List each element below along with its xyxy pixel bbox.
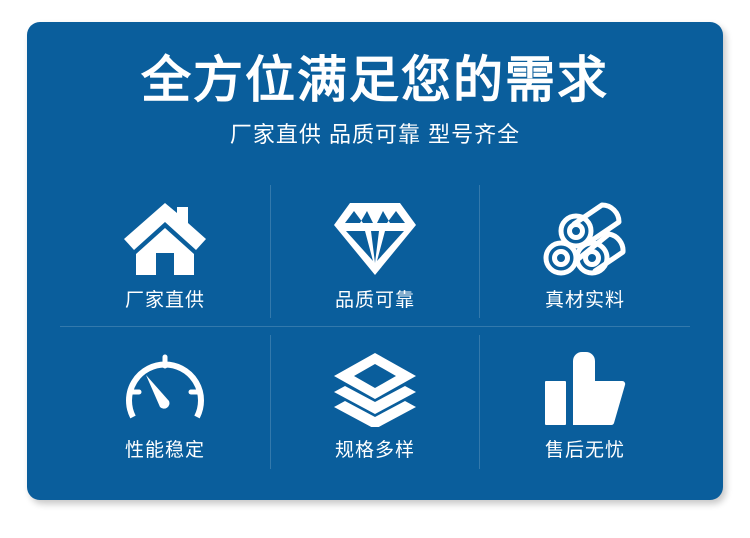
layers-icon: [332, 341, 418, 437]
feature-cell-worry-free-service: 售后无忧: [480, 327, 690, 477]
feature-label: 性能稳定: [125, 439, 205, 463]
feature-grid: 厂家直供 品质可靠: [60, 177, 690, 477]
house-icon: [122, 191, 208, 287]
diamond-icon: [333, 191, 417, 287]
feature-label: 售后无忧: [545, 439, 625, 463]
banner-header: 全方位满足您的需求 厂家直供 品质可靠 型号齐全: [27, 22, 723, 148]
pipes-icon: [539, 191, 631, 287]
feature-label: 品质可靠: [335, 289, 415, 313]
thumbs-up-icon: [542, 341, 628, 437]
feature-cell-manufacturer-direct: 厂家直供: [60, 177, 270, 327]
feature-cell-various-specs: 规格多样: [270, 327, 480, 477]
banner-subtitle: 厂家直供 品质可靠 型号齐全: [27, 110, 723, 148]
gauge-icon: [124, 341, 206, 437]
feature-label: 真材实料: [545, 289, 625, 313]
feature-label: 厂家直供: [125, 289, 205, 313]
banner-title: 全方位满足您的需求: [27, 22, 723, 110]
feature-label: 规格多样: [335, 439, 415, 463]
promo-banner: 全方位满足您的需求 厂家直供 品质可靠 型号齐全 厂家直供: [27, 22, 723, 500]
feature-cell-genuine-material: 真材实料: [480, 177, 690, 327]
feature-cell-reliable-quality: 品质可靠: [270, 177, 480, 327]
feature-cell-stable-performance: 性能稳定: [60, 327, 270, 477]
